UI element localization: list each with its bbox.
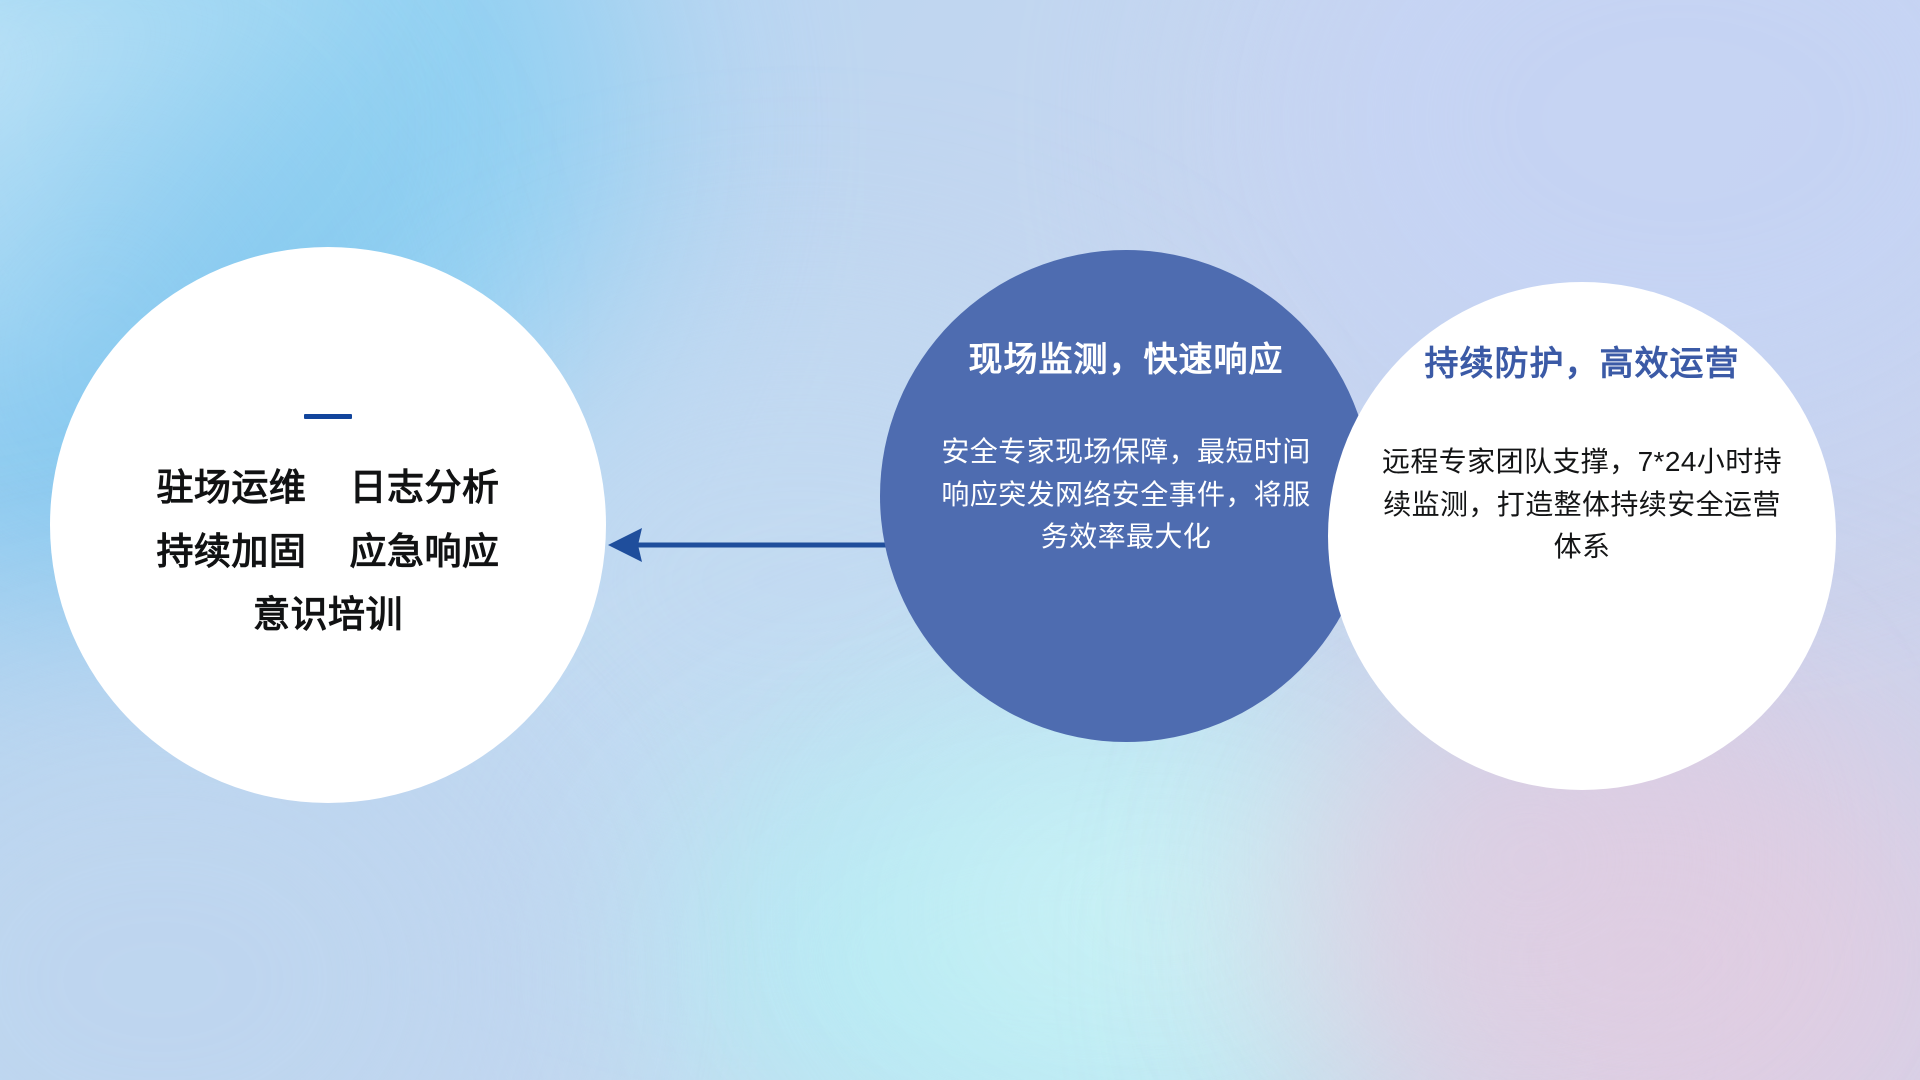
divider-dash (304, 414, 352, 419)
onsite-monitoring-body: 安全专家现场保障，最短时间响应突发网络安全事件，将服务效率最大化 (940, 431, 1312, 559)
capability-line-2: 持续加固 应急响应 (156, 531, 499, 572)
flow-arrow-icon (600, 515, 900, 575)
capability-line-3: 意识培训 (253, 594, 403, 635)
continuous-protection-title: 持续防护，高效运营 (1425, 336, 1740, 385)
capability-list: 驻场运维 日志分析 持续加固 应急响应 意识培训 (156, 467, 499, 635)
continuous-protection-circle: 持续防护，高效运营 远程专家团队支撑，7*24小时持续监测，打造整体持续安全运营… (1328, 282, 1836, 790)
slide-canvas: 驻场运维 日志分析 持续加固 应急响应 意识培训 现场监测，快速响应 安全专家现… (0, 0, 1920, 1080)
continuous-protection-body: 远程专家团队支撑，7*24小时持续监测，打造整体持续安全运营体系 (1372, 441, 1792, 569)
left-capability-circle: 驻场运维 日志分析 持续加固 应急响应 意识培训 (50, 247, 606, 803)
capability-line-1: 驻场运维 日志分析 (156, 467, 499, 508)
onsite-monitoring-circle: 现场监测，快速响应 安全专家现场保障，最短时间响应突发网络安全事件，将服务效率最… (880, 250, 1372, 742)
onsite-monitoring-title: 现场监测，快速响应 (969, 332, 1284, 381)
